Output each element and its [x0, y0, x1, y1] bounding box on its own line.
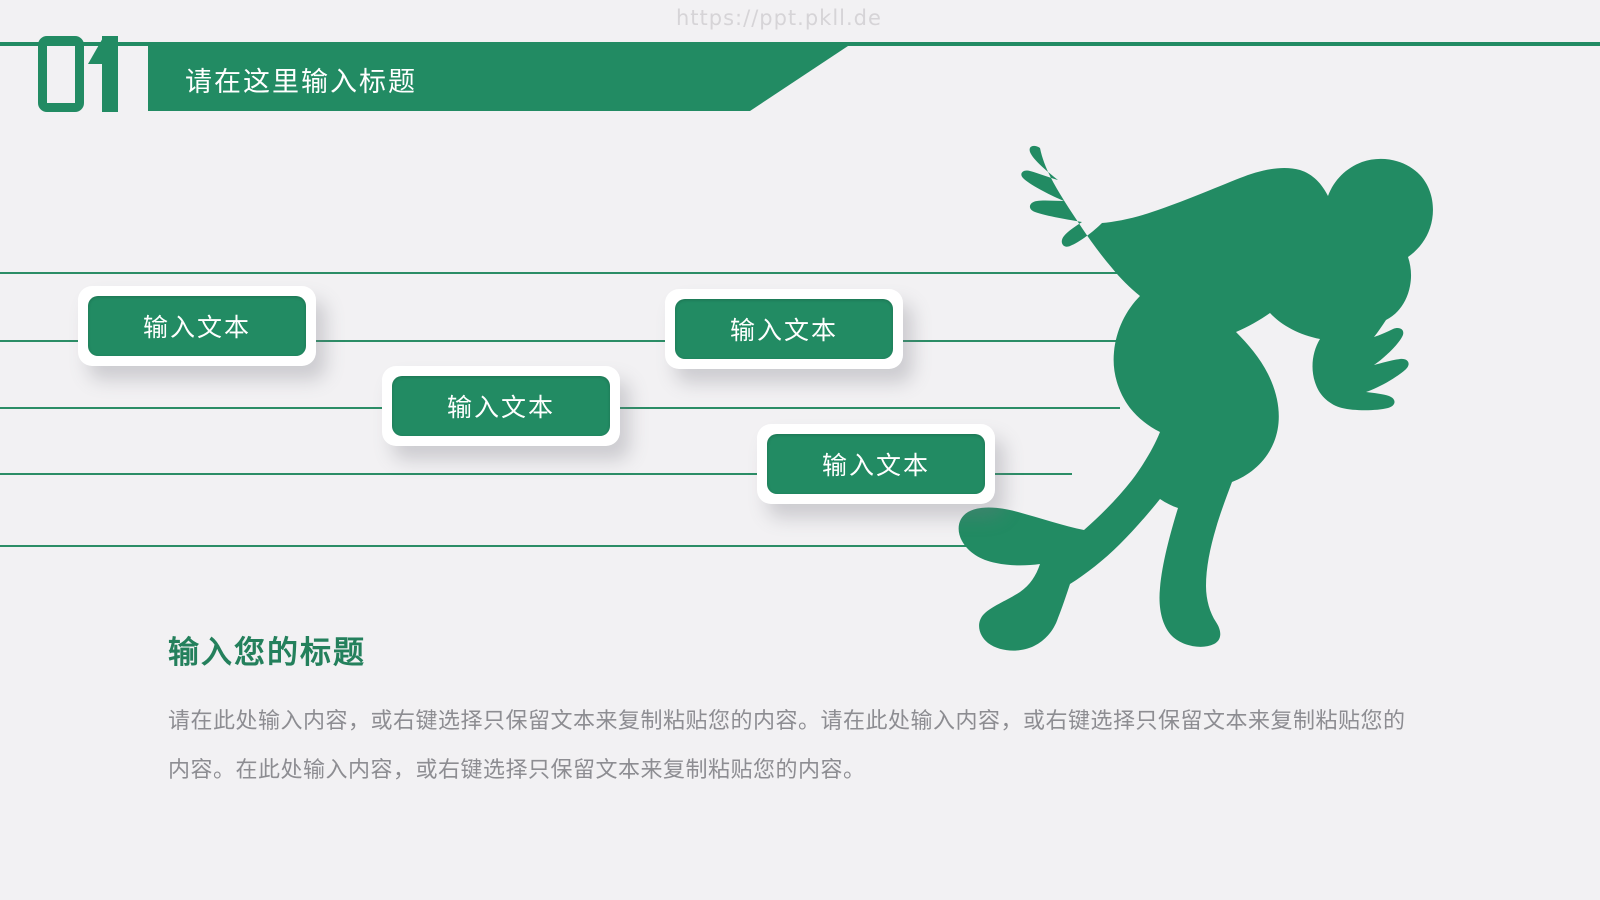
body-paragraph: 请在此处输入内容，或右键选择只保留文本来复制粘贴您的内容。请在此处输入内容，或右…	[168, 696, 1408, 794]
text-chip-body: 输入文本	[675, 299, 893, 359]
body-heading: 输入您的标题	[168, 627, 366, 672]
digit-zero-glyph	[38, 36, 84, 112]
sprinter-silhouette-icon	[930, 130, 1530, 660]
text-chip[interactable]: 输入文本	[665, 289, 903, 369]
watermark-url: https://ppt.pkll.de	[676, 6, 882, 30]
text-chip[interactable]: 输入文本	[382, 366, 620, 446]
text-chip-body: 输入文本	[88, 296, 306, 356]
digit-one-stem-glyph	[102, 36, 118, 112]
text-chip-body: 输入文本	[767, 434, 985, 494]
header-top-rule	[0, 42, 1600, 46]
text-chip-label: 输入文本	[447, 388, 555, 424]
text-chip[interactable]: 输入文本	[78, 286, 316, 366]
text-chip-label: 输入文本	[143, 308, 251, 344]
slide-canvas: https://ppt.pkll.de 请在这里输入标题 输入文本 输入文本 输…	[0, 0, 1600, 900]
text-chip-label: 输入文本	[730, 311, 838, 347]
track-line	[0, 545, 1010, 547]
section-number-badge	[38, 36, 136, 112]
text-chip-label: 输入文本	[822, 446, 930, 482]
text-chip-body: 输入文本	[392, 376, 610, 436]
page-title: 请在这里输入标题	[185, 60, 417, 99]
text-chip[interactable]: 输入文本	[757, 424, 995, 504]
